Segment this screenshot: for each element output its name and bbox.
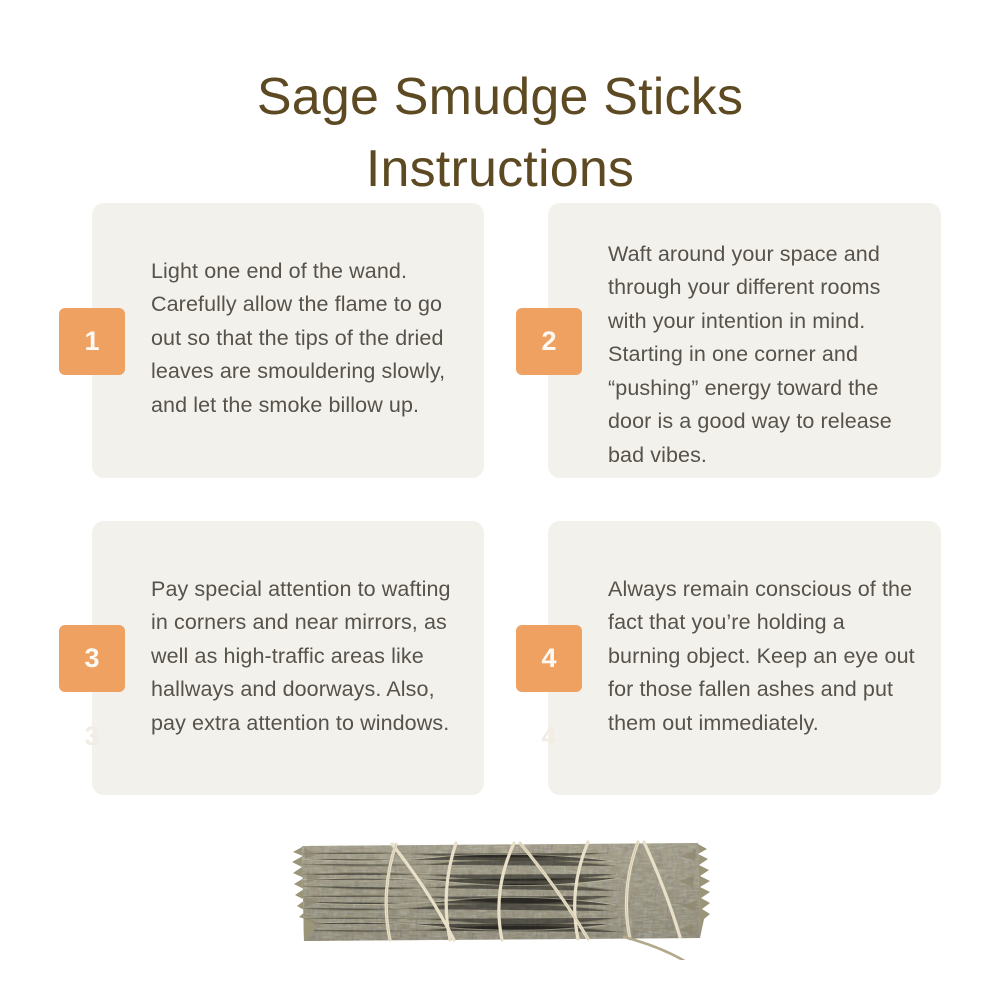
step-card-1: Light one end of the wand. Carefully all… [92,203,484,478]
step-text-3: Pay special attention to wafting in corn… [151,573,462,741]
step-badge-2: 2 [516,308,582,375]
step-badge-1: 1 [59,308,125,375]
sage-bundle-illustration [288,830,712,960]
steps-grid: Light one end of the wand. Carefully all… [0,203,1000,803]
step-text-4: Always remain conscious of the fact that… [608,573,921,741]
step-badge-4: 4 [516,625,582,692]
step-card-4: Always remain conscious of the fact that… [548,521,941,795]
step-badge-3: 3 [59,625,125,692]
step-text-2: Waft around your space and through your … [608,238,921,473]
step-text-1: Light one end of the wand. Carefully all… [151,255,462,423]
step-card-3: Pay special attention to wafting in corn… [92,521,484,795]
sage-bundle-image [288,830,712,960]
step-card-2: Waft around your space and through your … [548,203,941,478]
page-title: Sage Smudge Sticks Instructions [0,61,1000,205]
sage-trailing-string [624,937,703,960]
